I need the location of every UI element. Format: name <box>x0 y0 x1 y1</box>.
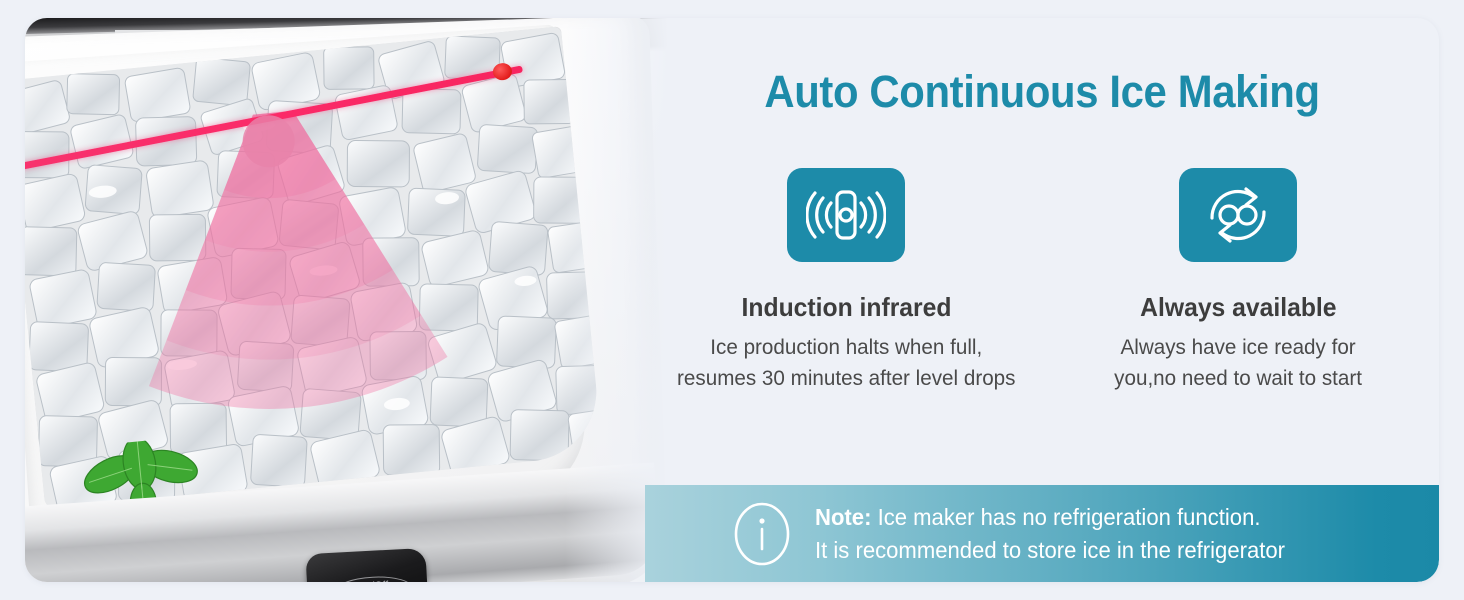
ice-basin <box>25 26 603 509</box>
feature-description: Ice production halts when full, resumes … <box>677 332 1015 394</box>
feature-title: Always available <box>1140 292 1336 323</box>
ice-cubes-illustration <box>25 26 603 509</box>
feature-list: Induction infrared Ice production halts … <box>645 168 1439 394</box>
feature-title: Induction infrared <box>741 292 951 323</box>
feature-induction-infrared: Induction infrared Ice production halts … <box>650 168 1042 394</box>
note-line-2: It is recommended to store ice in the re… <box>815 534 1285 567</box>
feature-description-line-1: Always have ice ready for <box>1114 332 1362 363</box>
note-label: Note: <box>815 504 871 530</box>
infinity-cycle-icon <box>1179 168 1297 262</box>
promo-banner: On/Off Auto Continuous Ice Making <box>0 0 1464 600</box>
note-text: Note: Ice maker has no refrigeration fun… <box>815 501 1285 567</box>
promo-card: On/Off Auto Continuous Ice Making <box>25 18 1439 582</box>
note-banner: Note: Ice maker has no refrigeration fun… <box>645 485 1439 582</box>
feature-description-line-1: Ice production halts when full, <box>677 332 1015 363</box>
product-photo: On/Off <box>25 18 685 582</box>
induction-infrared-sensor-icon <box>787 168 905 262</box>
on-off-control-panel[interactable]: On/Off <box>305 548 428 582</box>
note-line-1: Note: Ice maker has no refrigeration fun… <box>815 501 1285 534</box>
ice-maker-lid-bezel <box>25 24 590 532</box>
feature-description-line-2: resumes 30 minutes after level drops <box>677 363 1015 394</box>
feature-always-available: Always available Always have ice ready f… <box>1042 168 1434 394</box>
note-line-1-text: Ice maker has no refrigeration function. <box>871 504 1260 530</box>
page-title: Auto Continuous Ice Making <box>673 66 1411 118</box>
feature-description-line-2: you,no need to wait to start <box>1114 363 1362 394</box>
feature-description: Always have ice ready for you,no need to… <box>1114 332 1362 394</box>
info-circle-icon <box>729 501 795 567</box>
